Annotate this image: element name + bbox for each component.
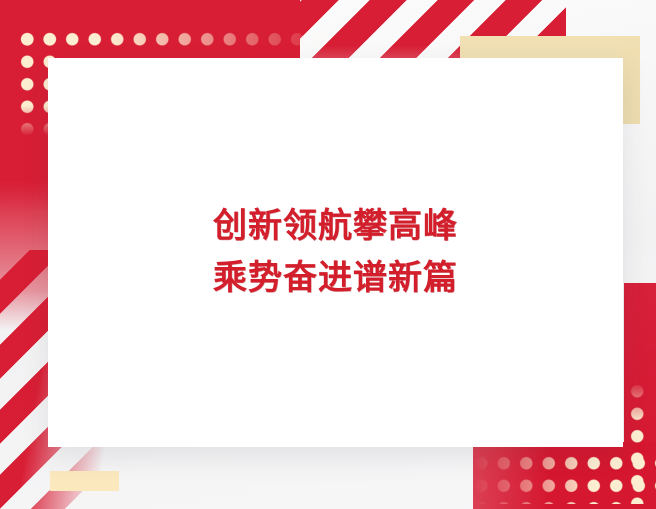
- gold-bracket-horizontal-bar: [460, 36, 640, 58]
- headline-line-1: 创新领航攀高峰: [213, 201, 458, 253]
- gold-chip-bottom-left: [50, 471, 119, 491]
- white-content-card: 创新领航攀高峰 乘势奋进谱新篇: [48, 58, 623, 447]
- dot-grid-top-left-row-icon: [16, 28, 346, 54]
- headline-line-2: 乘势奋进谱新篇: [213, 253, 458, 305]
- dot-grid-bottom-right-column-icon: [626, 380, 652, 504]
- poster-canvas: 创新领航攀高峰 乘势奋进谱新篇: [0, 0, 656, 509]
- poster-headline: 创新领航攀高峰 乘势奋进谱新篇: [213, 201, 458, 304]
